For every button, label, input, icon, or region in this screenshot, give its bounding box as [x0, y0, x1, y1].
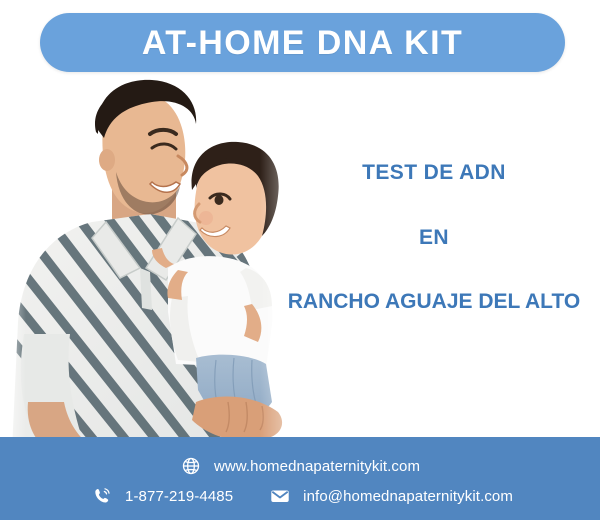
headline-block: TEST DE ADN EN RANCHO AGUAJE DEL ALTO	[268, 162, 600, 312]
headline-line-3: RANCHO AGUAJE DEL ALTO	[268, 291, 600, 312]
headline-line-2: EN	[268, 227, 600, 248]
contact-phone[interactable]: 1-877-219-4485	[91, 485, 233, 507]
header-banner: AT-HOME DNA KIT	[40, 13, 565, 72]
footer-row-phone-email: 1-877-219-4485 info@homednapaternitykit.…	[0, 485, 600, 507]
website-text: www.homednapaternitykit.com	[214, 459, 420, 474]
headline-line-1: TEST DE ADN	[268, 162, 600, 183]
envelope-icon	[269, 485, 291, 507]
globe-icon	[180, 455, 202, 477]
footer-contact-bar: www.homednapaternitykit.com 1-877-219-44…	[0, 437, 600, 520]
email-text: info@homednapaternitykit.com	[303, 489, 513, 504]
footer-row-website: www.homednapaternitykit.com	[0, 455, 600, 477]
phone-text: 1-877-219-4485	[125, 489, 233, 504]
promotional-poster: AT-HOME DNA KIT TEST DE ADN EN RANCHO AG…	[0, 0, 600, 520]
phone-ringing-icon	[91, 485, 113, 507]
contact-email[interactable]: info@homednapaternitykit.com	[269, 485, 513, 507]
contact-website[interactable]: www.homednapaternitykit.com	[180, 455, 420, 477]
header-title: AT-HOME DNA KIT	[142, 26, 463, 60]
